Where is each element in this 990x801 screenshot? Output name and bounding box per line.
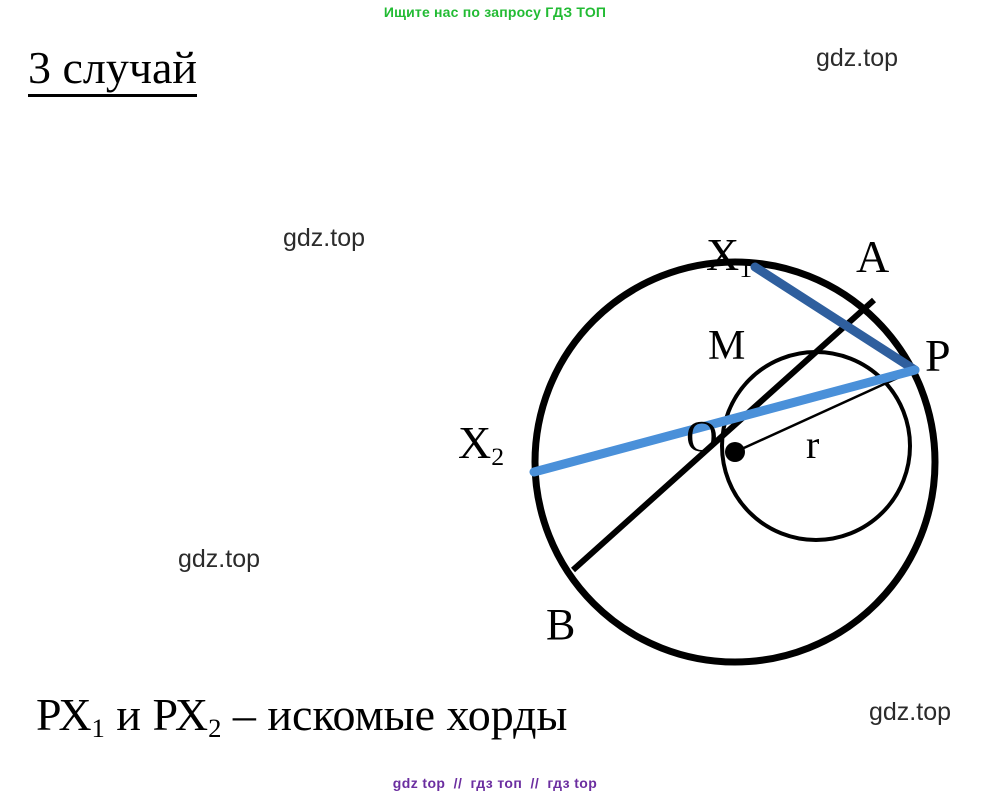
bottom-footer: gdz top // гдз топ // гдз top (0, 775, 990, 791)
geometry-figure (0, 0, 990, 801)
label-x1-sub: 1 (739, 254, 752, 283)
footer-part-2: гдз топ (471, 775, 523, 791)
label-o: O (686, 415, 718, 459)
caption-sub2: 2 (208, 713, 221, 743)
label-m: M (708, 325, 745, 367)
caption-prefix: РХ (36, 689, 92, 740)
label-x1: X1 (706, 232, 752, 278)
footer-separator-1: // (450, 775, 467, 791)
label-x2-base: X (458, 417, 491, 468)
label-a: A (856, 234, 889, 280)
caption-suffix: – искомые хорды (221, 689, 567, 740)
label-r: r (806, 425, 819, 465)
label-b: B (546, 603, 575, 647)
footer-part-1: gdz top (393, 775, 446, 791)
figure-page: Ищите нас по запросу ГДЗ ТОП 3 случай gd… (0, 0, 990, 801)
footer-part-3: гдз top (547, 775, 597, 791)
label-x1-base: X (706, 229, 739, 280)
center-point-o-dot (725, 442, 745, 462)
label-p: P (925, 333, 951, 379)
figure-caption: РХ1 и РХ2 – искомые хорды (36, 690, 567, 741)
label-x2-sub: 2 (491, 442, 504, 471)
footer-separator-2: // (527, 775, 544, 791)
caption-middle: и РХ (105, 689, 208, 740)
caption-sub1: 1 (92, 713, 105, 743)
label-x2: X2 (458, 420, 504, 466)
